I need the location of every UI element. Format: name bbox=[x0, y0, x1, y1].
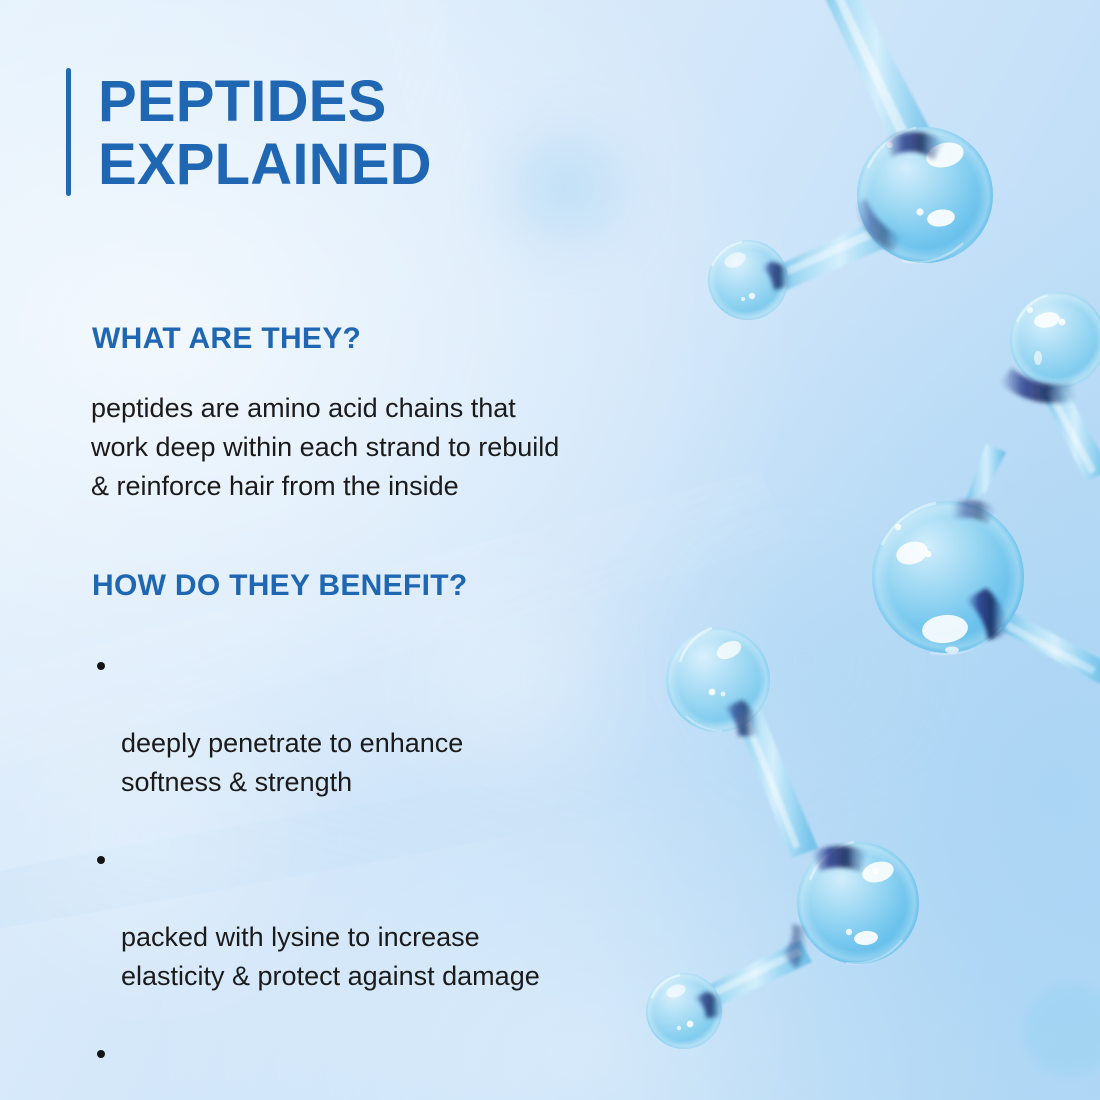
list-item-label: packed with lysine to increase elasticit… bbox=[121, 922, 540, 991]
text-content: PEPTIDES EXPLAINED WHAT ARE THEY? peptid… bbox=[0, 0, 720, 1100]
page-title: PEPTIDES EXPLAINED bbox=[66, 68, 432, 196]
bullet-dot-icon bbox=[97, 1050, 105, 1058]
list-item: leave hair feeling softer, smoother, & e… bbox=[91, 1034, 691, 1100]
benefit-bullet-list: deeply penetrate to enhance softness & s… bbox=[91, 646, 691, 1100]
molecule-sphere-icon bbox=[1010, 292, 1100, 388]
section-heading-how-do-they-benefit: HOW DO THEY BENEFIT? bbox=[92, 569, 467, 603]
list-item: packed with lysine to increase elasticit… bbox=[91, 840, 691, 996]
title-accent-rule bbox=[66, 68, 71, 196]
section-heading-what-are-they: WHAT ARE THEY? bbox=[92, 322, 361, 356]
paragraph-what-are-they: peptides are amino acid chains that work… bbox=[91, 389, 691, 506]
bullet-dot-icon bbox=[97, 856, 105, 864]
title-text: PEPTIDES EXPLAINED bbox=[98, 68, 432, 196]
list-item-label: deeply penetrate to enhance softness & s… bbox=[121, 728, 463, 797]
list-item: deeply penetrate to enhance softness & s… bbox=[91, 646, 691, 802]
poster-canvas: PEPTIDES EXPLAINED WHAT ARE THEY? peptid… bbox=[0, 0, 1100, 1100]
bullet-dot-icon bbox=[97, 662, 105, 670]
